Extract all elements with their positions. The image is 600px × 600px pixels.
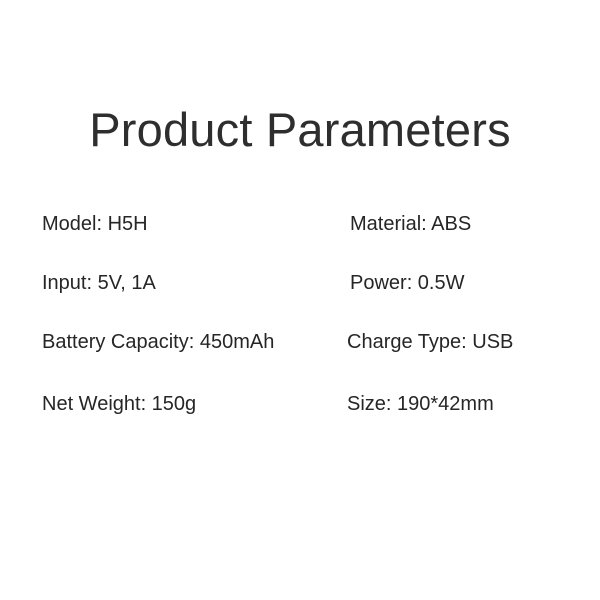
- spec-charge-type: Charge Type: USB: [347, 330, 513, 354]
- page-title: Product Parameters: [0, 106, 600, 153]
- specifications-table: Model: H5H Material: ABS Input: 5V, 1A P…: [0, 212, 600, 392]
- spec-model: Model: H5H: [42, 212, 148, 236]
- spec-material: Material: ABS: [350, 212, 471, 236]
- table-row: Model: H5H Material: ABS: [0, 212, 600, 271]
- spec-battery-capacity: Battery Capacity: 450mAh: [42, 330, 274, 354]
- table-row: Battery Capacity: 450mAh Charge Type: US…: [0, 330, 600, 389]
- spec-power: Power: 0.5W: [350, 271, 464, 295]
- spec-size: Size: 190*42mm: [347, 392, 494, 416]
- spec-input: Input: 5V, 1A: [42, 271, 156, 295]
- spec-net-weight: Net Weight: 150g: [42, 392, 196, 416]
- table-row: Input: 5V, 1A Power: 0.5W: [0, 271, 600, 330]
- product-parameters-sheet: Product Parameters Model: H5H Material: …: [0, 0, 600, 600]
